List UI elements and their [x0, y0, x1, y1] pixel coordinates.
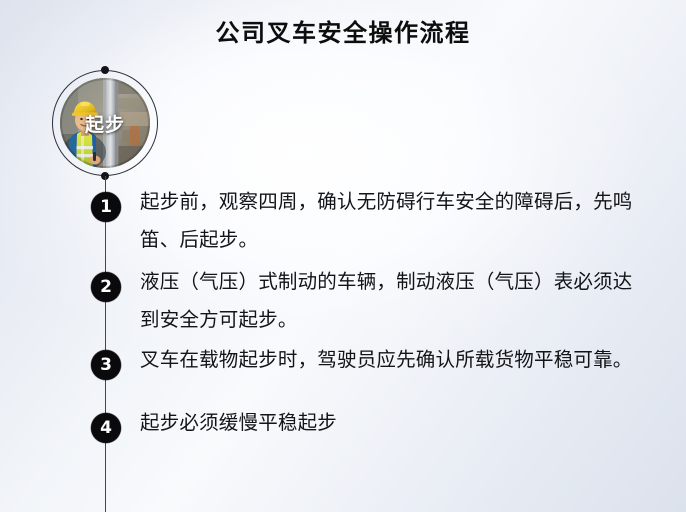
step-description: 起步必须缓慢平稳起步	[140, 404, 640, 442]
slide-canvas: 公司叉车安全操作流程	[0, 0, 686, 512]
step-number-badge: 4	[91, 413, 121, 443]
step-description: 叉车在载物起步时，驾驶员应先确认所载货物平稳可靠。	[140, 341, 640, 379]
step-number-badge: 3	[91, 350, 121, 380]
step-description: 起步前，观察四周，确认无防碍行车安全的障碍后，先鸣笛、后起步。	[140, 183, 640, 259]
step-number-badge: 2	[91, 272, 121, 302]
timeline-steps: 1 起步前，观察四周，确认无防碍行车安全的障碍后，先鸣笛、后起步。 2 液压（气…	[0, 0, 686, 512]
step-number-badge: 1	[91, 192, 121, 222]
step-description: 液压（气压）式制动的车辆，制动液压（气压）表必须达到安全方可起步。	[140, 263, 640, 339]
